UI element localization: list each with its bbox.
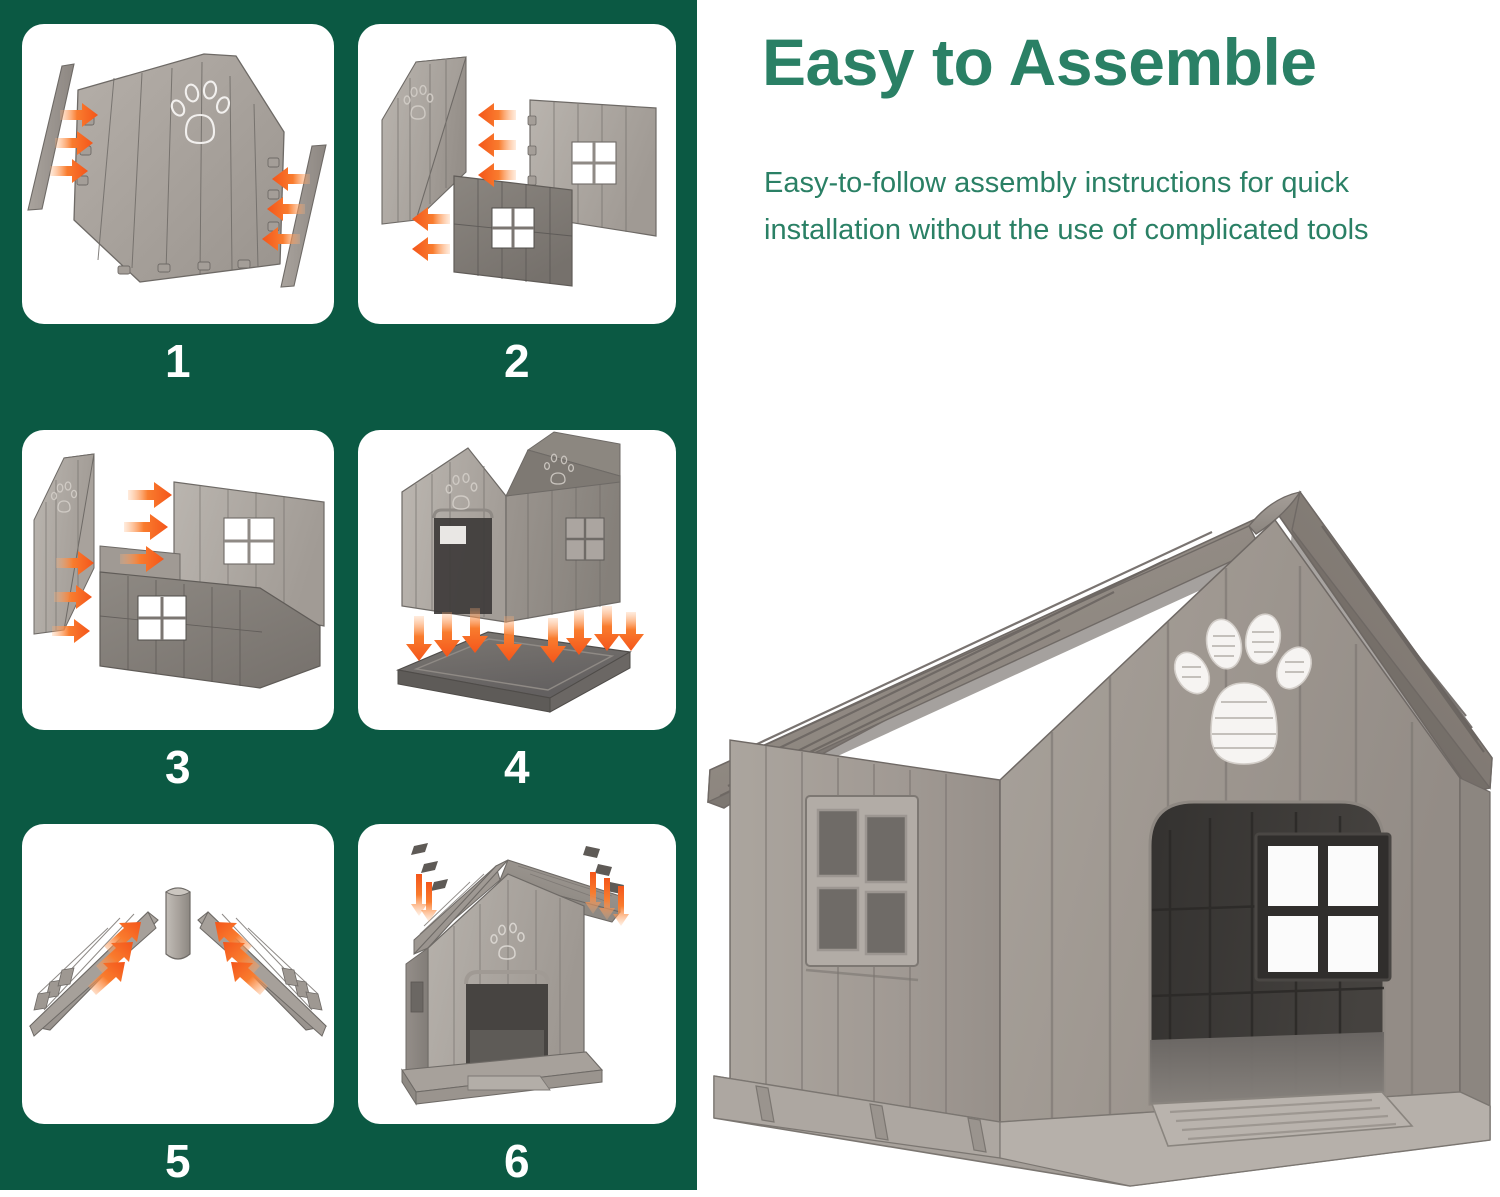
step-4-card [358, 430, 676, 730]
step-3: 3 [22, 430, 334, 808]
side-window [806, 796, 918, 966]
step-5-card [22, 824, 334, 1124]
step-2: 2 [358, 24, 676, 402]
step-4: 4 [358, 430, 676, 808]
step-1-number: 1 [22, 338, 334, 384]
infographic-page: 1 [0, 0, 1500, 1197]
dog-house-illustration [700, 440, 1500, 1197]
page-title: Easy to Assemble [762, 26, 1462, 100]
step-1-card [22, 24, 334, 324]
assembly-arrows-right [215, 922, 268, 995]
side-trim-right [281, 145, 326, 287]
front-gable-wall [402, 448, 506, 622]
step-4-number: 4 [358, 744, 676, 790]
step-6-number: 6 [358, 1138, 676, 1184]
gable-wall-left [382, 57, 466, 224]
step-1-diagram [22, 24, 334, 324]
step-2-card [358, 24, 676, 324]
step-5-diagram [22, 824, 334, 1124]
gable-wall-panel [74, 54, 284, 282]
step-3-diagram [22, 430, 334, 730]
side-trim-left [28, 64, 74, 210]
left-side-wall [406, 948, 428, 1082]
page-subtitle: Easy-to-follow assembly instructions for… [764, 160, 1464, 254]
step-6-diagram [358, 824, 676, 1124]
back-window [1256, 834, 1390, 980]
door-opening [1150, 802, 1390, 1104]
step-5: 5 [22, 824, 334, 1197]
step-6: 6 [358, 824, 676, 1197]
step-2-diagram [358, 24, 676, 324]
right-side-wall [1460, 778, 1490, 1130]
step-5-number: 5 [22, 1138, 334, 1184]
right-side-wall [506, 476, 620, 622]
ridge-cap-piece [166, 888, 190, 959]
step-1: 1 [22, 24, 334, 402]
roof-half-right [198, 912, 326, 1036]
step-6-card [358, 824, 676, 1124]
lower-wall-panel [454, 176, 572, 286]
assembly-arrows-left [88, 922, 141, 995]
gable-wall-detached [34, 454, 94, 634]
step-2-number: 2 [358, 338, 676, 384]
step-3-number: 3 [22, 744, 334, 790]
roof-half-left [30, 912, 158, 1036]
step-4-diagram [358, 430, 676, 730]
step-3-card [22, 430, 334, 730]
product-image [700, 440, 1500, 1197]
front-wall-with-door [428, 874, 584, 1082]
assembly-panel: 1 [0, 0, 697, 1190]
